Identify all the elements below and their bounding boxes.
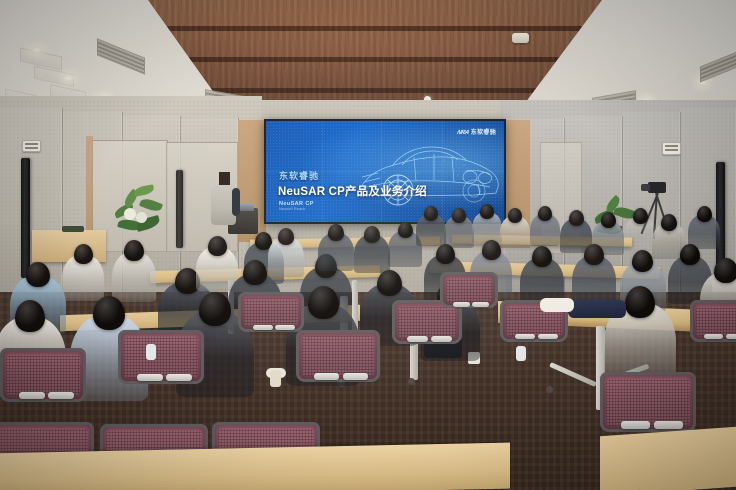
- chair-armrest: [621, 421, 650, 429]
- speaker-column-left: [21, 158, 30, 278]
- desk-caster: [408, 378, 415, 385]
- person-head: [74, 244, 93, 264]
- person-head: [199, 292, 231, 326]
- office-chair[interactable]: [238, 292, 304, 332]
- person-head: [480, 204, 494, 219]
- chair-armrest: [137, 374, 163, 381]
- chair-armrest: [314, 373, 339, 380]
- chair-armrest: [515, 334, 535, 339]
- chair-armrest: [19, 392, 45, 399]
- chair-armrest: [726, 334, 736, 339]
- person-head: [308, 286, 339, 319]
- person-head: [278, 228, 294, 245]
- brand-name-top: 东软睿驰: [471, 130, 496, 136]
- chair-armrest: [704, 334, 723, 339]
- chair-armrest: [431, 336, 452, 342]
- person-head: [364, 226, 380, 243]
- office-chair[interactable]: [600, 372, 696, 432]
- chair-armrest: [654, 421, 683, 429]
- chair-armrest: [253, 325, 273, 330]
- led-tile-seam: [266, 171, 504, 172]
- person-head: [243, 260, 267, 285]
- chair-armrest: [275, 325, 295, 330]
- audience-member: [318, 224, 354, 275]
- office-chair[interactable]: [0, 348, 86, 402]
- audience-member: [268, 228, 304, 281]
- person-head: [15, 300, 45, 332]
- person-head: [632, 250, 653, 272]
- wall-outlet-right[interactable]: [662, 142, 681, 155]
- wireframe-car-graphic: [354, 127, 502, 211]
- speaker-column-mid-left: [176, 170, 183, 248]
- person-head: [538, 206, 552, 221]
- person-head: [482, 240, 501, 260]
- chair-mesh: [124, 336, 198, 378]
- person-head: [625, 286, 655, 318]
- chair-armrest: [407, 336, 428, 342]
- person-head: [328, 224, 344, 241]
- person-head: [398, 222, 413, 238]
- brand-name-bottom: NeuSAR CP: [279, 201, 314, 207]
- screen-subtitle: 东软睿驰: [279, 169, 319, 182]
- person-head: [714, 258, 736, 283]
- screen-brand-logo-bottom: NeuSAR CP Neusoft Reach: [279, 201, 314, 211]
- person-head: [508, 208, 522, 223]
- jacket-on-desk: [568, 300, 626, 318]
- desk-caster: [546, 386, 553, 393]
- screen-title: NeuSAR CP产品及业务介绍: [278, 183, 427, 199]
- office-chair[interactable]: [440, 272, 498, 308]
- chair-armrest: [453, 302, 470, 307]
- plant-leaf: [133, 184, 154, 196]
- audience-member: [416, 206, 446, 249]
- person-head: [584, 244, 604, 265]
- person-head: [93, 296, 125, 330]
- office-chair[interactable]: [296, 330, 380, 382]
- camera-body: [648, 182, 666, 193]
- ceiling-downlight: [30, 46, 43, 54]
- chair-mesh: [398, 306, 456, 338]
- presenter-arm: [232, 188, 240, 216]
- person-head: [601, 212, 616, 228]
- person-head: [532, 246, 552, 267]
- ceiling-downlight: [62, 74, 75, 82]
- outlet-slot: [25, 147, 38, 149]
- table-object: [62, 226, 84, 232]
- plant-flower: [124, 208, 136, 220]
- brand-subname-bottom: Neusoft Reach: [279, 207, 314, 211]
- audience-member: [530, 206, 560, 249]
- chair-mesh: [606, 378, 690, 426]
- plant-flower: [136, 212, 147, 223]
- person-head: [436, 244, 455, 264]
- led-tile-seam: [322, 121, 323, 222]
- person-head: [208, 236, 227, 256]
- chair-armrest: [472, 302, 489, 307]
- chair-armrest: [343, 373, 368, 380]
- person-head: [124, 240, 144, 261]
- outlet-slot: [25, 143, 38, 145]
- person-head: [661, 214, 677, 231]
- person-head: [633, 208, 648, 224]
- person-head: [569, 210, 584, 226]
- led-tile-seam: [381, 121, 382, 222]
- water-bottle: [270, 370, 281, 387]
- person-head: [377, 270, 402, 296]
- wall-outlet-left[interactable]: [22, 140, 41, 152]
- water-bottle: [516, 346, 526, 361]
- chair-mesh: [302, 336, 374, 376]
- chair-armrest: [538, 334, 558, 339]
- conference-room-photo: NRA东软睿驰 东软睿驰 NeuSAR CP产品及业务介绍 NeuSAR CP …: [0, 0, 736, 490]
- chair-mesh: [6, 354, 80, 396]
- chair-mesh: [244, 298, 298, 326]
- chair-armrest: [166, 374, 192, 381]
- chair-mesh: [696, 306, 736, 336]
- white-cloth-on-desk: [540, 298, 574, 312]
- office-chair[interactable]: [690, 300, 736, 342]
- office-chair[interactable]: [118, 330, 204, 384]
- outlet-slot: [665, 145, 678, 147]
- person-head: [680, 244, 700, 265]
- chair-armrest: [48, 392, 74, 399]
- outlet-slot: [665, 149, 678, 151]
- person-head: [424, 206, 438, 221]
- chair-mesh: [446, 278, 492, 302]
- person-head: [452, 208, 466, 223]
- screen-brand-logo-top: NRA东软睿驰: [457, 127, 496, 136]
- screen-surface: NRA东软睿驰 东软睿驰 NeuSAR CP产品及业务介绍 NeuSAR CP …: [266, 121, 504, 222]
- person-head: [697, 206, 712, 222]
- brand-mark: NRA: [456, 130, 469, 136]
- presenter-head: [219, 172, 230, 185]
- person-head: [26, 262, 50, 287]
- potted-plant-left: [110, 178, 164, 240]
- water-bottle: [146, 344, 156, 360]
- camera-lens-icon: [641, 184, 650, 191]
- ceiling-speaker: [512, 33, 529, 43]
